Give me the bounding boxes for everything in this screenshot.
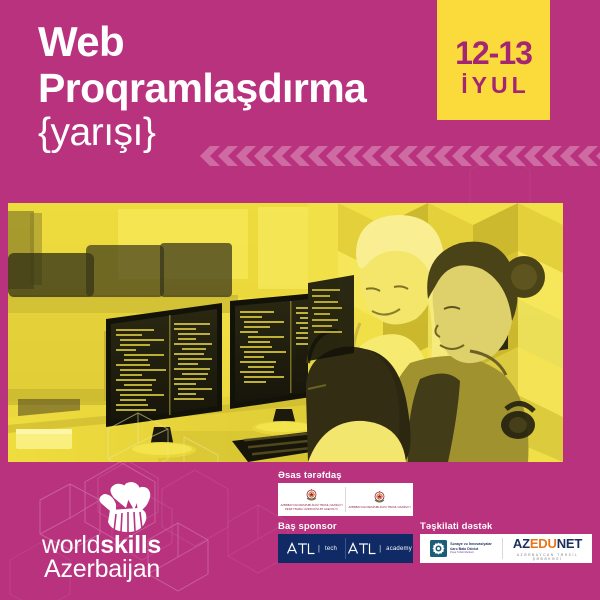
sponsor-label-org: Təşkilati dəstək <box>420 521 492 532</box>
azedunet-sub: AZƏRBAYCAN TƏHSİL ŞƏBƏKƏSİ <box>503 553 592 561</box>
worldskills-country: Azerbaijan <box>44 556 160 582</box>
hero-photo <box>8 203 563 462</box>
worldskills-hand-icon <box>94 482 162 534</box>
atl-mark-icon <box>286 541 316 556</box>
innovation-agency-text: Sənaye və İnnovasiyalar üzrə Bakı Dövlət <box>450 542 492 551</box>
azerbaijan-state-emblem-2: AZƏRBAYCAN RESPUBLİKASI TƏHSİL NAZİRLİYİ <box>346 483 413 516</box>
worldskills-logo: worldskills Azerbaijan <box>42 482 217 582</box>
poster-title: Web Proqramlaşdırma {yarışı} <box>38 20 438 155</box>
azedunet-logo: AZEDUNET AZƏRBAYCAN TƏHSİL ŞƏBƏKƏSİ <box>503 534 592 563</box>
sponsor-label-main: Baş sponsor <box>278 521 337 532</box>
innovation-agency-logo: Sənaye və İnnovasiyalar üzrə Bakı Dövlət… <box>420 534 502 563</box>
chevron-left-icon <box>196 146 600 170</box>
azedunet-az: AZ <box>513 536 530 551</box>
emblem-text-1: AZƏRBAYCAN RESPUBLİKASI TƏHSİL NAZİRLİYİ… <box>278 504 345 511</box>
azerbaijan-state-emblem-1: AZƏRBAYCAN RESPUBLİKASI TƏHSİL NAZİRLİYİ… <box>278 483 345 516</box>
title-line-2: Proqramlaşdırma <box>38 66 438 110</box>
azedunet-wordmark: AZEDUNET <box>513 537 582 551</box>
atl-divider-bar: | <box>318 544 320 553</box>
emblem-text-2: AZƏRBAYCAN RESPUBLİKASI TƏHSİL NAZİRLİYİ <box>348 506 410 509</box>
atl-divider-bar: | <box>379 544 381 553</box>
atl-mark-icon <box>347 541 377 556</box>
sponsor-panel-org: Sənaye və İnnovasiyalar üzrə Bakı Dövlət… <box>420 534 592 563</box>
chevron-strip <box>196 146 600 170</box>
date-month: İYUL <box>457 72 529 98</box>
atl-academy-sub: academy <box>386 546 412 552</box>
state-emblem-icon <box>304 488 319 503</box>
azedunet-edu: EDU <box>530 536 557 551</box>
poster-header: Web Proqramlaşdırma {yarışı} 12-13 İYUL <box>0 0 600 203</box>
azedunet-net: NET <box>557 536 582 551</box>
date-days: 12-13 <box>455 36 532 70</box>
atl-tech-logo: | tech <box>278 534 345 563</box>
innovation-agency-sub: Peşə Təhsil Mərkəzi <box>450 551 473 554</box>
atl-tech-sub: tech <box>325 546 337 552</box>
poster-root: Web Proqramlaşdırma {yarışı} 12-13 İYUL <box>0 0 600 600</box>
sponsor-panel-partner: AZƏRBAYCAN RESPUBLİKASI TƏHSİL NAZİRLİYİ… <box>278 483 413 516</box>
state-emblem-icon <box>372 490 387 505</box>
sponsor-panel-main: | tech | academy <box>278 534 413 563</box>
atl-academy-logo: | academy <box>346 534 413 563</box>
sponsor-label-partner: Əsas tərəfdaş <box>278 470 342 481</box>
gear-icon <box>430 540 447 557</box>
title-line-1: Web <box>38 20 438 64</box>
date-badge: 12-13 İYUL <box>437 0 550 120</box>
